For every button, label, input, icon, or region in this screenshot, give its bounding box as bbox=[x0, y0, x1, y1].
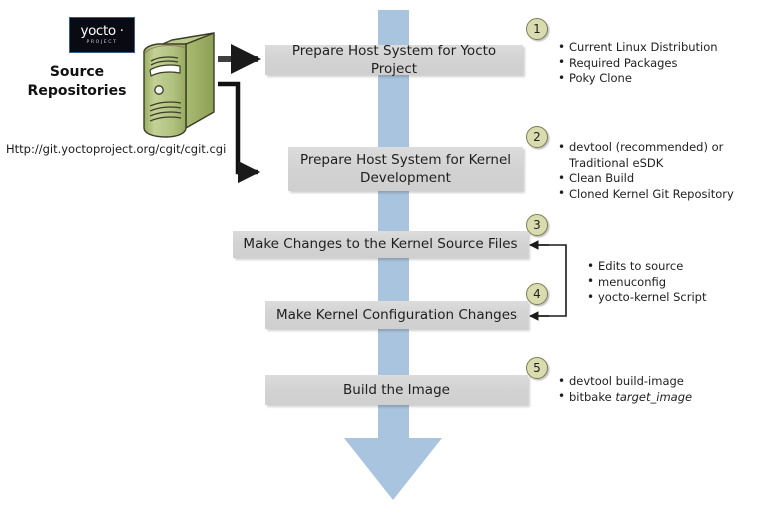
list-item: yocto-kernel Script bbox=[598, 290, 707, 306]
list-item: Poky Clone bbox=[569, 71, 718, 87]
step-number-badge-2: 2 bbox=[526, 126, 548, 148]
steps-3-4-shared-bullet-list: Edits to source menuconfig yocto-kernel … bbox=[585, 259, 707, 306]
list-item: Clean Build bbox=[569, 171, 734, 187]
step-1-bullet-list: Current Linux Distribution Required Pack… bbox=[556, 40, 718, 87]
step-number-badge-3: 3 bbox=[526, 214, 548, 236]
source-repositories-label-line2: Repositories bbox=[18, 82, 136, 101]
step-1-box-label: Prepare Host System for Yocto Project bbox=[273, 42, 515, 78]
step-5-box-label: Build the Image bbox=[343, 381, 450, 399]
step-number-badge-1: 1 bbox=[526, 18, 548, 40]
step-4-box[interactable]: Make Kernel Configuration Changes bbox=[265, 301, 528, 329]
main-flow-arrow-head bbox=[344, 438, 442, 500]
step-2-box[interactable]: Prepare Host System for Kernel Developme… bbox=[288, 147, 523, 191]
bitbake-target-image-variable: target_image bbox=[615, 390, 692, 404]
step-1-box[interactable]: Prepare Host System for Yocto Project bbox=[265, 45, 523, 75]
server-icon bbox=[136, 28, 220, 143]
step-2-bullet-list: devtool (recommended) or Traditional eSD… bbox=[556, 140, 734, 202]
step-2-box-label: Prepare Host System for Kernel Developme… bbox=[300, 151, 511, 187]
bitbake-command-prefix: bitbake bbox=[569, 390, 615, 404]
list-item: Current Linux Distribution bbox=[569, 40, 718, 56]
list-item: devtool (recommended) or bbox=[569, 140, 734, 156]
yocto-logo-subtext: PROJECT bbox=[86, 39, 117, 46]
source-repositories-label-line1: Source bbox=[18, 63, 136, 82]
bracket-steps-3-4 bbox=[537, 245, 566, 316]
step-5-bullet-list: devtool build-image bitbake target_image bbox=[556, 374, 692, 405]
source-repositories-url: Http://git.yoctoproject.org/cgit/cgit.cg… bbox=[6, 142, 226, 156]
kernel-development-flow-diagram: yocto · PROJECT Source Repositories Http… bbox=[0, 0, 769, 517]
step-2-box-label-line1: Prepare Host System for Kernel bbox=[300, 152, 511, 168]
list-item-continuation: Traditional eSDK bbox=[569, 156, 734, 172]
list-item: devtool build-image bbox=[569, 374, 692, 390]
step-3-box-label: Make Changes to the Kernel Source Files bbox=[243, 235, 517, 253]
list-item: Required Packages bbox=[569, 56, 718, 72]
step-4-box-label: Make Kernel Configuration Changes bbox=[276, 306, 517, 324]
list-item: Edits to source bbox=[598, 259, 707, 275]
step-number-badge-4: 4 bbox=[526, 283, 548, 305]
list-item: bitbake target_image bbox=[569, 390, 692, 406]
list-item: menuconfig bbox=[598, 275, 707, 291]
yocto-project-logo: yocto · PROJECT bbox=[69, 17, 135, 53]
step-3-box[interactable]: Make Changes to the Kernel Source Files bbox=[233, 231, 528, 258]
step-2-box-label-line2: Development bbox=[360, 170, 451, 186]
list-item: Cloned Kernel Git Repository bbox=[569, 187, 734, 203]
step-5-box[interactable]: Build the Image bbox=[265, 375, 528, 405]
arrow-server-to-step2 bbox=[218, 84, 258, 172]
step-number-badge-5: 5 bbox=[526, 357, 548, 379]
source-repositories-label: Source Repositories bbox=[18, 63, 136, 101]
yocto-logo-wordmark: yocto · bbox=[80, 25, 123, 38]
